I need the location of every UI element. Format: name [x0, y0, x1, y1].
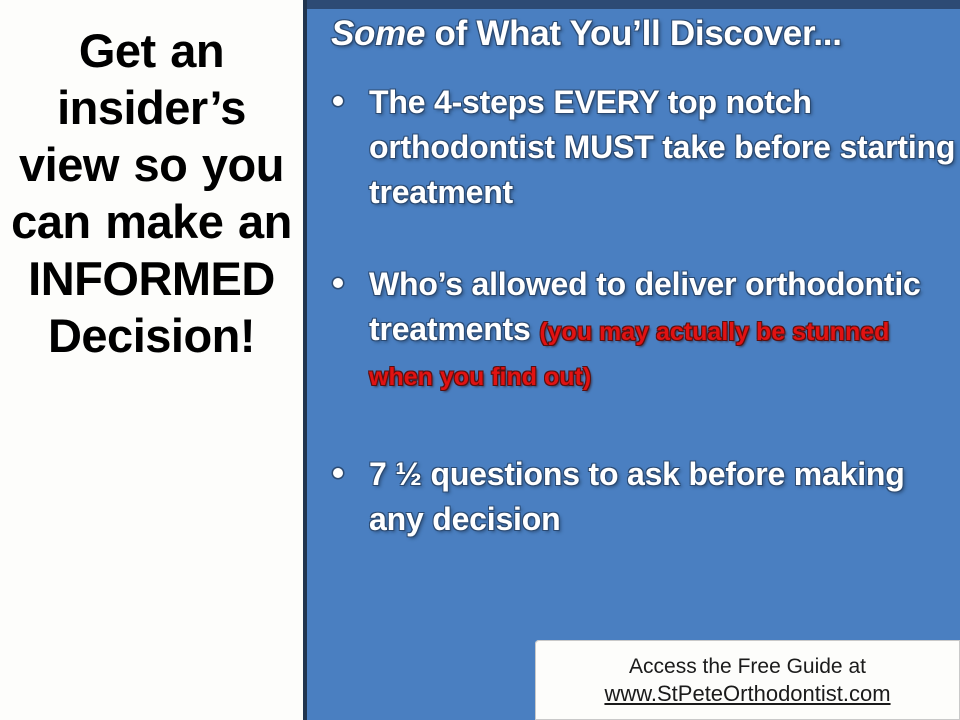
list-item: Who’s allowed to deliver orthodontic tre…	[321, 262, 960, 397]
bullet-dot-icon	[333, 278, 343, 288]
section-title-emphasis: Some	[331, 14, 425, 53]
left-headline-panel: Get an insider’s view so you can make an…	[0, 0, 303, 720]
right-content-panel: Some of What You’ll Discover... The 4-st…	[307, 0, 960, 720]
list-item-main: 7 ½ questions to ask before making any d…	[369, 456, 905, 537]
section-title: Some of What You’ll Discover...	[331, 13, 951, 55]
list-item-text: The 4-steps EVERY top notch orthodontist…	[369, 80, 960, 215]
section-title-rest: of What You’ll Discover...	[425, 14, 842, 53]
bullet-dot-icon	[333, 96, 343, 106]
slide-canvas: Get an insider’s view so you can make an…	[0, 0, 960, 720]
list-item: The 4-steps EVERY top notch orthodontist…	[321, 80, 960, 215]
panel-top-strip	[307, 0, 960, 9]
discover-bullet-list: The 4-steps EVERY top notch orthodontist…	[321, 80, 960, 542]
list-item-text: Who’s allowed to deliver orthodontic tre…	[369, 262, 960, 397]
list-item: 7 ½ questions to ask before making any d…	[321, 452, 960, 542]
list-item-text: 7 ½ questions to ask before making any d…	[369, 452, 960, 542]
cta-callout-box: Access the Free Guide at www.StPeteOrtho…	[535, 640, 960, 720]
bullet-dot-icon	[333, 468, 343, 478]
cta-website-link[interactable]: www.StPeteOrthodontist.com	[604, 680, 890, 708]
cta-label: Access the Free Guide at	[629, 653, 866, 680]
headline-text: Get an insider’s view so you can make an…	[3, 22, 301, 364]
list-item-main: The 4-steps EVERY top notch orthodontist…	[369, 84, 955, 210]
